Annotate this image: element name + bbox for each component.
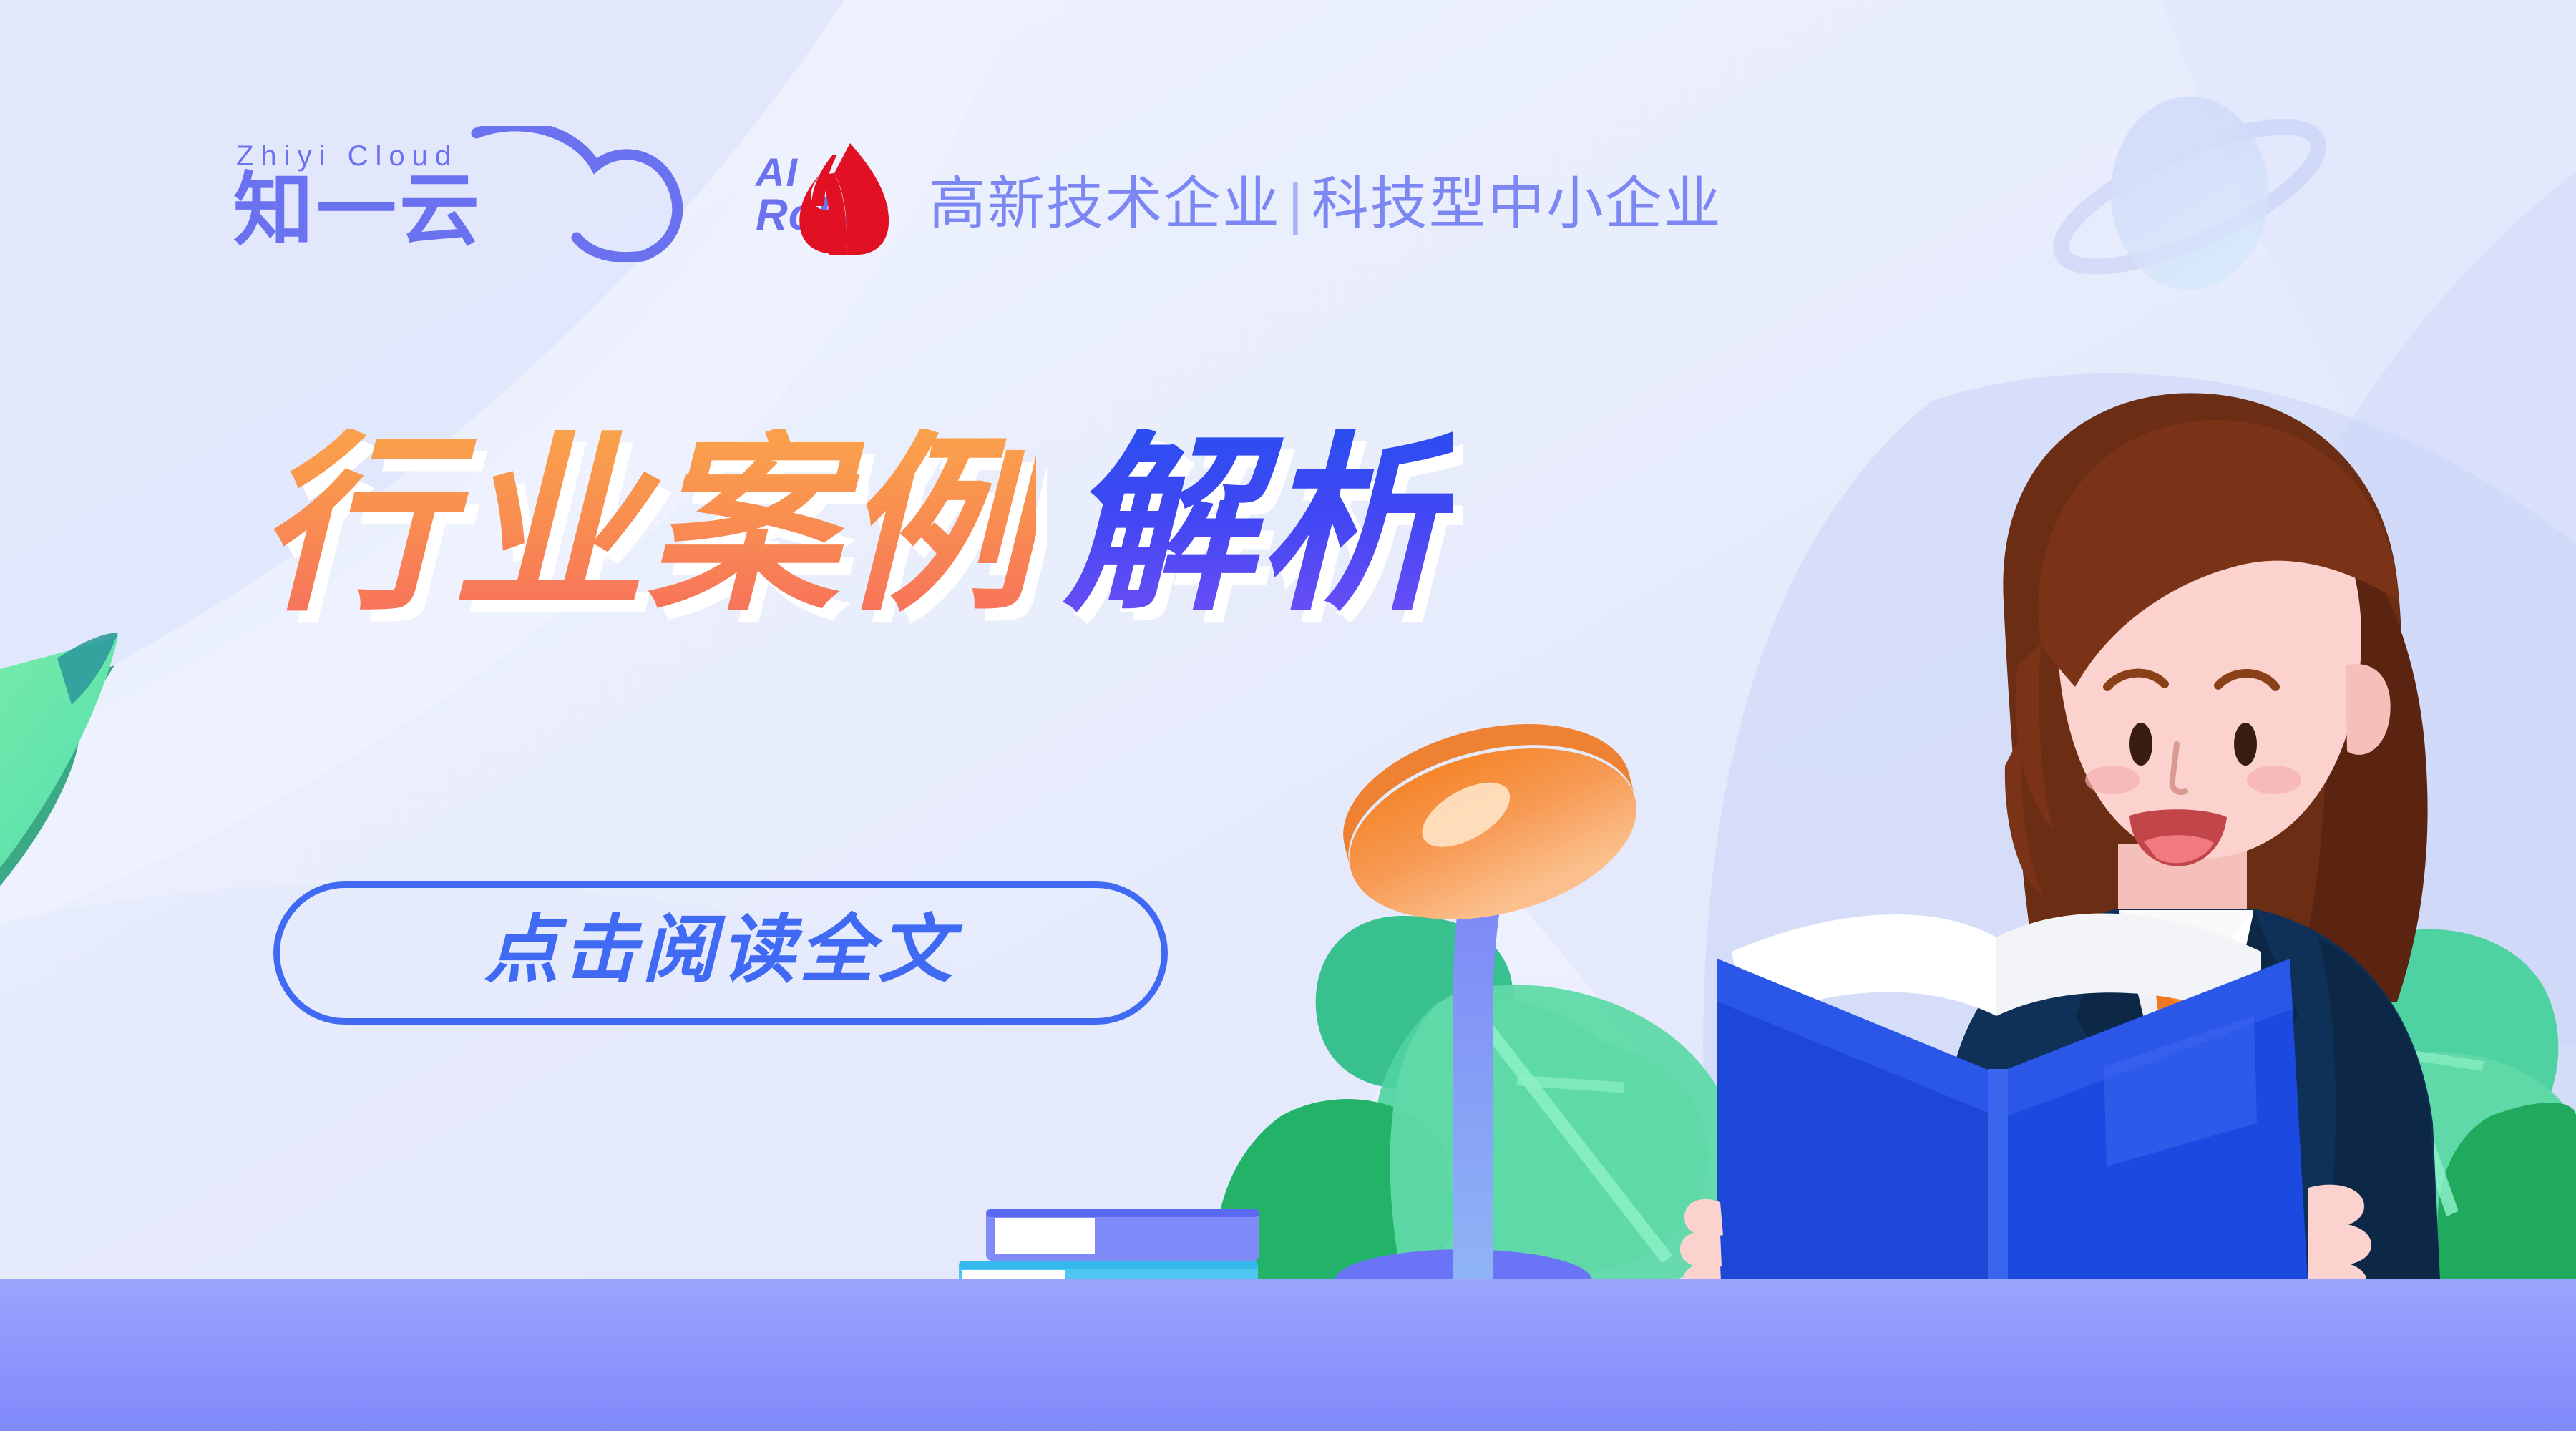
cert-separator: | — [1281, 172, 1312, 235]
cloud-outline-icon — [462, 126, 706, 262]
certification-text: 高新技术企业|科技型中小企业 — [929, 157, 1722, 240]
promo-banner: Zhiyi Cloud 知一云 AI Robot 高新技术企业|科技型中小企业 … — [0, 0, 2576, 1431]
title-part-orange: 行业案例 — [258, 429, 1036, 621]
title-part-blue: 解析 — [1063, 429, 1453, 621]
brand-header: Zhiyi Cloud 知一云 AI Robot — [226, 140, 713, 262]
cert-label-secondary: 科技型中小企业 — [1312, 172, 1722, 235]
page-title: 行业案例 解析 — [258, 429, 1453, 621]
certification-badge: 高新技术企业|科技型中小企业 — [780, 142, 1722, 256]
red-flame-torch-icon — [780, 142, 909, 256]
cta-label: 点击阅读全文 — [484, 913, 957, 987]
desk-surface — [0, 1279, 2576, 1431]
cert-label-main: 高新技术企业 — [929, 172, 1281, 235]
read-full-article-button[interactable]: 点击阅读全文 — [273, 881, 1168, 1025]
logo-chinese-name: 知一云 — [233, 170, 482, 250]
zhiyi-cloud-logo[interactable]: Zhiyi Cloud 知一云 AI Robot — [226, 140, 713, 262]
